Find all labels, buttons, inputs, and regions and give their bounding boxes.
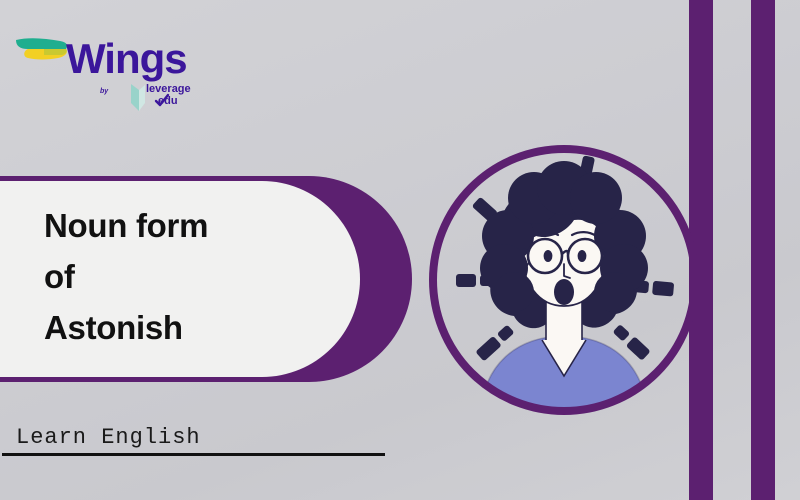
wings-logo[interactable]: Wings by leverage edu — [14, 18, 204, 108]
edu-label: edu — [158, 96, 178, 107]
logo-by-label: by — [100, 88, 108, 95]
decorative-vertical-bar-2 — [751, 0, 775, 500]
leverage-label: leverage — [146, 84, 191, 95]
leverage-edu-sublogo: leverage edu — [126, 83, 206, 115]
character-figure — [480, 161, 648, 424]
wing-mark-icon — [14, 36, 74, 68]
footer: Learn English — [16, 425, 396, 450]
footer-divider — [2, 453, 385, 456]
footer-label: Learn English — [16, 425, 201, 450]
poster-canvas: Wings by leverage edu Noun form of Aston… — [0, 0, 800, 500]
page-title: Noun form of Astonish — [44, 200, 344, 353]
wings-wordmark: Wings — [66, 38, 187, 80]
title-card: Noun form of Astonish — [0, 176, 412, 382]
astonished-woman-illustration — [424, 140, 708, 424]
title-line-3: Astonish — [44, 302, 344, 353]
title-line-2: of — [44, 251, 344, 302]
title-line-1: Noun form — [44, 200, 344, 251]
